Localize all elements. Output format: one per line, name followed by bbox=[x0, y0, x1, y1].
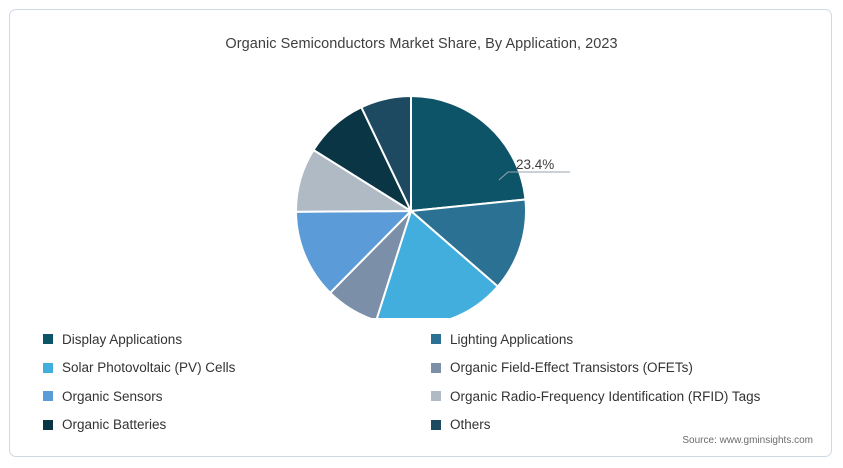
legend-item[interactable]: Organic Field-Effect Transistors (OFETs) bbox=[431, 360, 813, 375]
chart-legend: Display ApplicationsLighting Application… bbox=[43, 325, 813, 439]
legend-swatch-icon bbox=[43, 363, 53, 373]
legend-item-label: Display Applications bbox=[62, 332, 182, 347]
legend-swatch-icon bbox=[43, 334, 53, 344]
legend-swatch-icon bbox=[431, 420, 441, 430]
legend-item-label: Organic Field-Effect Transistors (OFETs) bbox=[450, 360, 693, 375]
chart-card: Organic Semiconductors Market Share, By … bbox=[9, 9, 832, 457]
slice-data-label: 23.4% bbox=[516, 157, 554, 172]
legend-item-label: Organic Radio-Frequency Identification (… bbox=[450, 389, 760, 404]
legend-item-label: Others bbox=[450, 417, 491, 432]
legend-row: Organic SensorsOrganic Radio-Frequency I… bbox=[43, 382, 813, 411]
legend-swatch-icon bbox=[43, 391, 53, 401]
legend-item-label: Organic Batteries bbox=[62, 417, 166, 432]
chart-title: Organic Semiconductors Market Share, By … bbox=[10, 36, 833, 52]
source-attribution: Source: www.gminsights.com bbox=[682, 435, 813, 446]
legend-item-label: Organic Sensors bbox=[62, 389, 163, 404]
legend-item[interactable]: Organic Batteries bbox=[43, 417, 431, 432]
legend-item[interactable]: Display Applications bbox=[43, 332, 431, 347]
legend-item[interactable]: Lighting Applications bbox=[431, 332, 813, 347]
pie-slice[interactable] bbox=[411, 96, 525, 211]
legend-swatch-icon bbox=[431, 363, 441, 373]
legend-swatch-icon bbox=[431, 391, 441, 401]
pie-svg bbox=[10, 68, 833, 318]
legend-row: Display ApplicationsLighting Application… bbox=[43, 325, 813, 354]
legend-item-label: Lighting Applications bbox=[450, 332, 573, 347]
legend-swatch-icon bbox=[43, 420, 53, 430]
legend-item[interactable]: Others bbox=[431, 417, 813, 432]
legend-row: Solar Photovoltaic (PV) CellsOrganic Fie… bbox=[43, 354, 813, 383]
pie-slices bbox=[296, 96, 526, 318]
legend-item-label: Solar Photovoltaic (PV) Cells bbox=[62, 360, 235, 375]
legend-item[interactable]: Solar Photovoltaic (PV) Cells bbox=[43, 360, 431, 375]
legend-item[interactable]: Organic Sensors bbox=[43, 389, 431, 404]
legend-swatch-icon bbox=[431, 334, 441, 344]
legend-item[interactable]: Organic Radio-Frequency Identification (… bbox=[431, 389, 813, 404]
pie-chart: 23.4% bbox=[10, 68, 833, 318]
